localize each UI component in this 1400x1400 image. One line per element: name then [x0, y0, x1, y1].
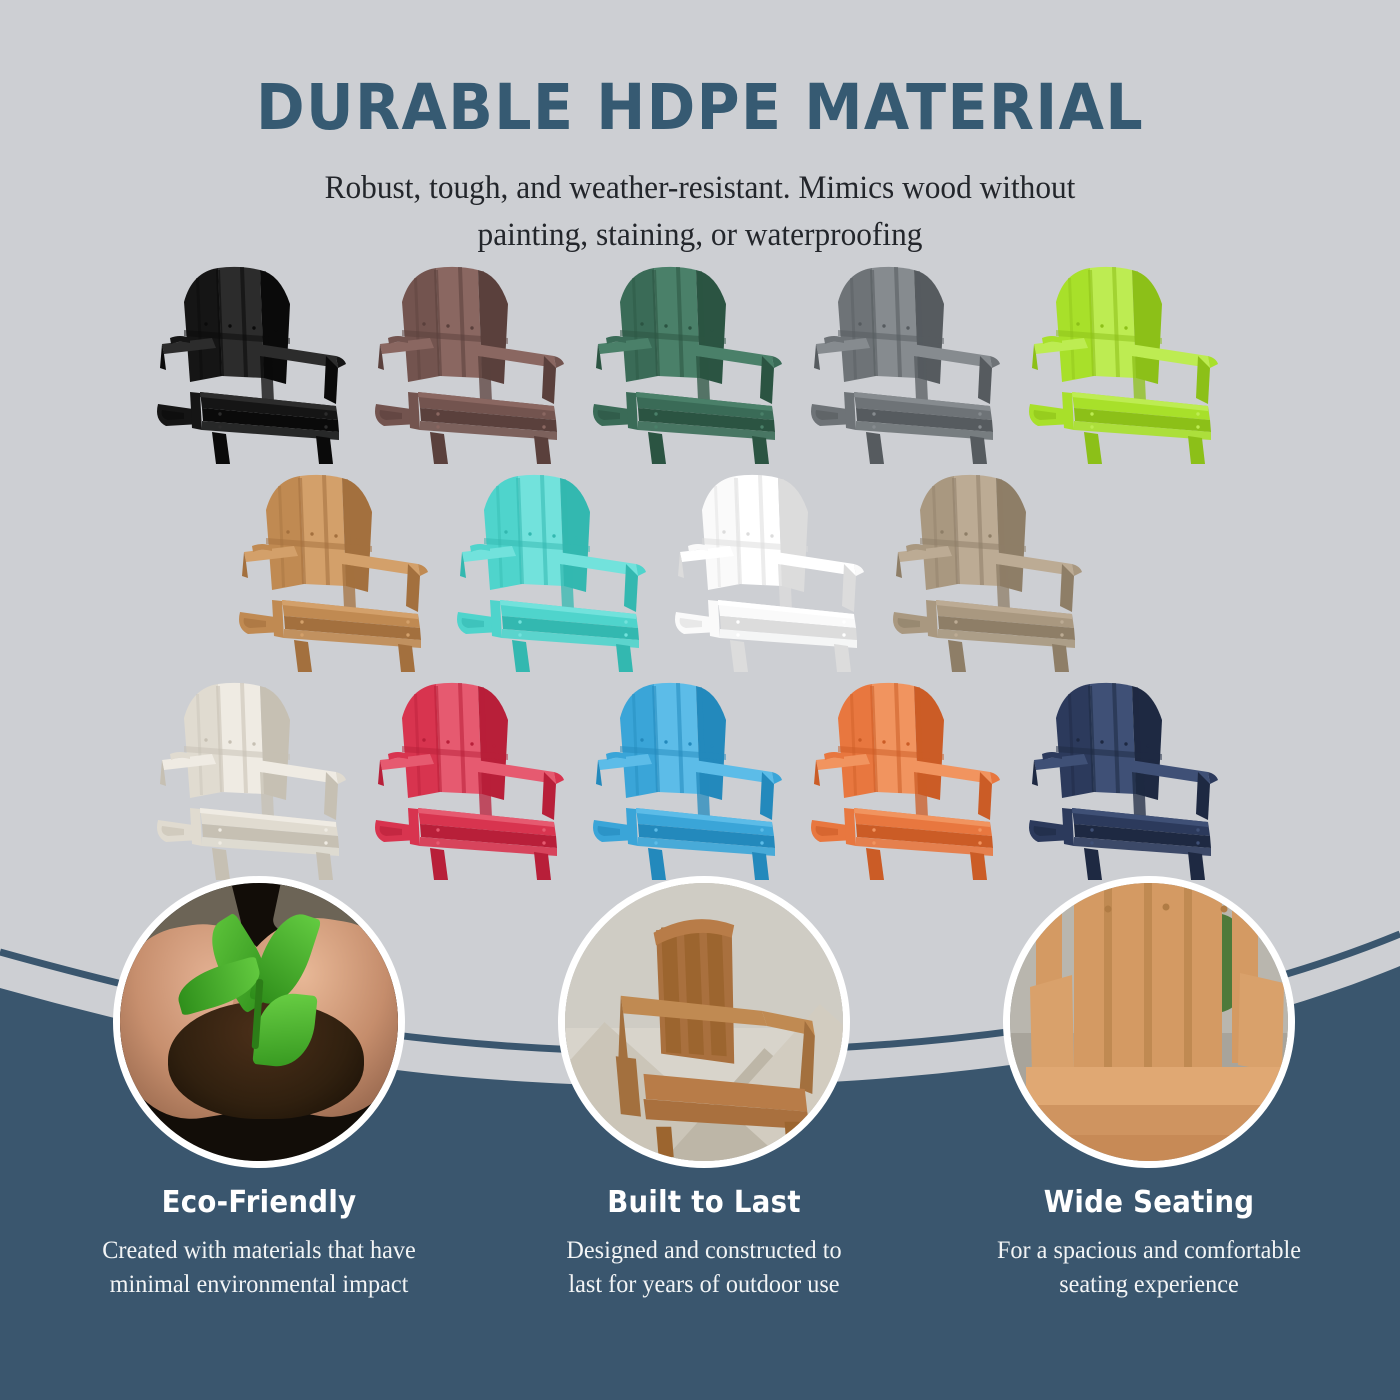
feature-photo-built-to-last — [558, 876, 850, 1168]
feature-title: Wide Seating — [942, 1185, 1356, 1220]
features-section: Eco-FriendlyCreated with materials that … — [0, 1185, 1400, 1365]
subtitle-line-2: painting, staining, or waterproofing — [35, 212, 1365, 259]
feature-eco-friendly: Eco-FriendlyCreated with materials that … — [34, 1185, 484, 1301]
adirondack-chair-icon-orange — [794, 680, 1012, 880]
adirondack-chair-icon-teak — [222, 472, 440, 672]
chair-swatch-orange[interactable] — [794, 680, 1012, 880]
chair-swatch-blue[interactable] — [576, 680, 794, 880]
chair-swatch-white[interactable] — [658, 472, 876, 672]
feature-title: Eco-Friendly — [52, 1185, 466, 1220]
feature-desc-line-1: Designed and constructed to — [490, 1233, 918, 1267]
adirondack-chair-icon-red — [358, 680, 576, 880]
chair-swatch-taupe[interactable] — [876, 472, 1094, 672]
chair-swatch-navy[interactable] — [1012, 680, 1230, 880]
feature-description: For a spacious and comfortableseating ex… — [935, 1233, 1363, 1301]
adirondack-chair-icon-navy — [1012, 680, 1230, 880]
chair-swatch-brown[interactable] — [358, 264, 576, 464]
seedling-in-hands-icon — [120, 883, 398, 1161]
adirondack-chair-icon-black — [140, 264, 358, 464]
adirondack-chair-icon-blue — [576, 680, 794, 880]
chair-swatch-lime[interactable] — [1012, 264, 1230, 464]
page-subtitle: Robust, tough, and weather-resistant. Mi… — [35, 165, 1365, 259]
chair-swatch-teak[interactable] — [222, 472, 440, 672]
adirondack-chair-icon-gray — [794, 264, 1012, 464]
chair-swatch-dark-green[interactable] — [576, 264, 794, 464]
adirondack-chair-icon-turquoise — [440, 472, 658, 672]
chair-swatch-ivory[interactable] — [140, 680, 358, 880]
feature-description: Designed and constructed tolast for year… — [490, 1233, 918, 1301]
chair-row-3 — [0, 680, 1400, 880]
adirondack-chair-icon-ivory — [140, 680, 358, 880]
adirondack-chair-icon-taupe — [876, 472, 1094, 672]
feature-built-to-last: Built to LastDesigned and constructed to… — [479, 1185, 929, 1301]
feature-photo-eco-friendly — [113, 876, 405, 1168]
feature-desc-line-2: last for years of outdoor use — [490, 1267, 918, 1301]
chair-swatch-black[interactable] — [140, 264, 358, 464]
subtitle-line-1: Robust, tough, and weather-resistant. Mi… — [35, 165, 1365, 212]
feature-desc-line-1: Created with materials that have — [45, 1233, 473, 1267]
adirondack-chair-icon-dark-green — [576, 264, 794, 464]
feature-wide-seating: Wide SeatingFor a spacious and comfortab… — [924, 1185, 1374, 1301]
feature-photo-wide-seating — [1003, 876, 1295, 1168]
feature-description: Created with materials that haveminimal … — [45, 1233, 473, 1301]
chair-on-patio-icon — [565, 883, 843, 1161]
page-title: DURABLE HDPE MATERIAL — [49, 76, 1351, 139]
feature-desc-line-2: minimal environmental impact — [45, 1267, 473, 1301]
feature-desc-line-2: seating experience — [935, 1267, 1363, 1301]
adirondack-chair-icon-white — [658, 472, 876, 672]
chair-row-2 — [0, 472, 1400, 672]
adirondack-chair-icon-brown — [358, 264, 576, 464]
feature-title: Built to Last — [497, 1185, 911, 1220]
feature-desc-line-1: For a spacious and comfortable — [935, 1233, 1363, 1267]
adirondack-chair-icon-lime — [1012, 264, 1230, 464]
chair-color-grid — [0, 264, 1400, 880]
header: DURABLE HDPE MATERIAL Robust, tough, and… — [0, 0, 1400, 259]
chair-swatch-turquoise[interactable] — [440, 472, 658, 672]
chair-row-1 — [0, 264, 1400, 464]
chair-swatch-red[interactable] — [358, 680, 576, 880]
chair-swatch-gray[interactable] — [794, 264, 1012, 464]
chair-wide-seat-closeup-icon — [1010, 883, 1288, 1161]
